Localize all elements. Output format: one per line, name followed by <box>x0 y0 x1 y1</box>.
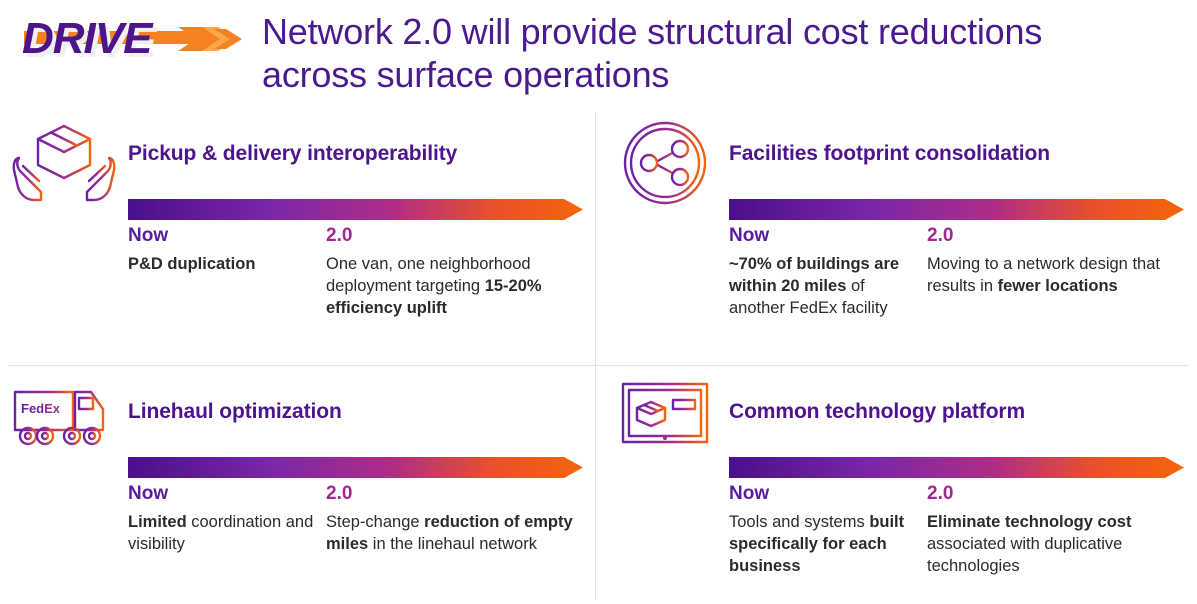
progress-arrow-bar <box>729 196 1184 224</box>
page-title: Network 2.0 will provide structural cost… <box>262 11 1092 97</box>
two-zero-text: Step-change reduction of empty miles in … <box>326 512 590 556</box>
two-zero-text: Eliminate technology cost associated wit… <box>927 512 1191 578</box>
now-vs-two-columns: Now P&D duplication 2.0 One van, one nei… <box>128 226 590 356</box>
drive-logo-text: DRIVE <box>22 14 154 63</box>
now-column: Now P&D duplication <box>128 226 324 276</box>
quadrant-title: Facilities footprint consolidation <box>729 142 1189 166</box>
quadrant-title: Pickup & delivery interoperability <box>128 142 588 166</box>
fedex-truck-icon: FedEx <box>12 378 116 464</box>
quadrant-grid: Pickup & delivery interoperability <box>0 108 1197 604</box>
network-share-circle-icon <box>613 120 717 206</box>
now-vs-two-columns: Now Limited coordination and visibility … <box>128 484 590 604</box>
now-text: Tools and systems built specifically for… <box>729 512 925 578</box>
monitor-package-icon <box>613 378 717 464</box>
two-zero-column: 2.0 Step-change reduction of empty miles… <box>326 484 590 556</box>
drive-logo: DRIVE DRIVE <box>18 10 246 68</box>
quadrant-pickup-delivery: Pickup & delivery interoperability <box>4 110 594 362</box>
slide-root: DRIVE DRIVE Network 2.0 will provide str… <box>0 0 1197 604</box>
now-label: Now <box>729 484 925 505</box>
now-label: Now <box>128 484 324 505</box>
now-label: Now <box>729 226 925 247</box>
horizontal-divider <box>8 365 1189 366</box>
two-zero-column: 2.0 Moving to a network design that resu… <box>927 226 1191 298</box>
two-zero-label: 2.0 <box>927 226 1191 247</box>
quadrant-title: Common technology platform <box>729 400 1189 424</box>
now-column: Now Limited coordination and visibility <box>128 484 324 556</box>
two-zero-label: 2.0 <box>326 484 590 505</box>
two-zero-text: One van, one neighborhood deployment tar… <box>326 254 590 320</box>
two-zero-label: 2.0 <box>927 484 1191 505</box>
two-zero-label: 2.0 <box>326 226 590 247</box>
now-text: ~70% of buildings are within 20 miles of… <box>729 254 925 320</box>
now-text: Limited coordination and visibility <box>128 512 324 556</box>
vertical-divider <box>595 112 596 600</box>
now-text: P&D duplication <box>128 254 324 276</box>
quadrant-title: Linehaul optimization <box>128 400 588 424</box>
two-zero-text: Moving to a network design that results … <box>927 254 1191 298</box>
package-in-hands-icon <box>12 120 116 206</box>
quadrant-linehaul-optimization: FedEx Linehaul optimization Now Limited … <box>4 368 594 604</box>
progress-arrow-bar <box>128 454 583 482</box>
progress-arrow-bar <box>128 196 583 224</box>
now-vs-two-columns: Now Tools and systems built specifically… <box>729 484 1191 604</box>
now-vs-two-columns: Now ~70% of buildings are within 20 mile… <box>729 226 1191 356</box>
progress-arrow-bar <box>729 454 1184 482</box>
two-zero-column: 2.0 Eliminate technology cost associated… <box>927 484 1191 578</box>
now-label: Now <box>128 226 324 247</box>
quadrant-facilities-footprint: Facilities footprint consolidation Now ~… <box>605 110 1195 362</box>
fedex-wordmark: FedEx <box>21 401 61 416</box>
now-column: Now ~70% of buildings are within 20 mile… <box>729 226 925 320</box>
slide-header: DRIVE DRIVE Network 2.0 will provide str… <box>0 0 1197 108</box>
two-zero-column: 2.0 One van, one neighborhood deployment… <box>326 226 590 320</box>
quadrant-common-technology: Common technology platform Now Tools and… <box>605 368 1195 604</box>
now-column: Now Tools and systems built specifically… <box>729 484 925 578</box>
